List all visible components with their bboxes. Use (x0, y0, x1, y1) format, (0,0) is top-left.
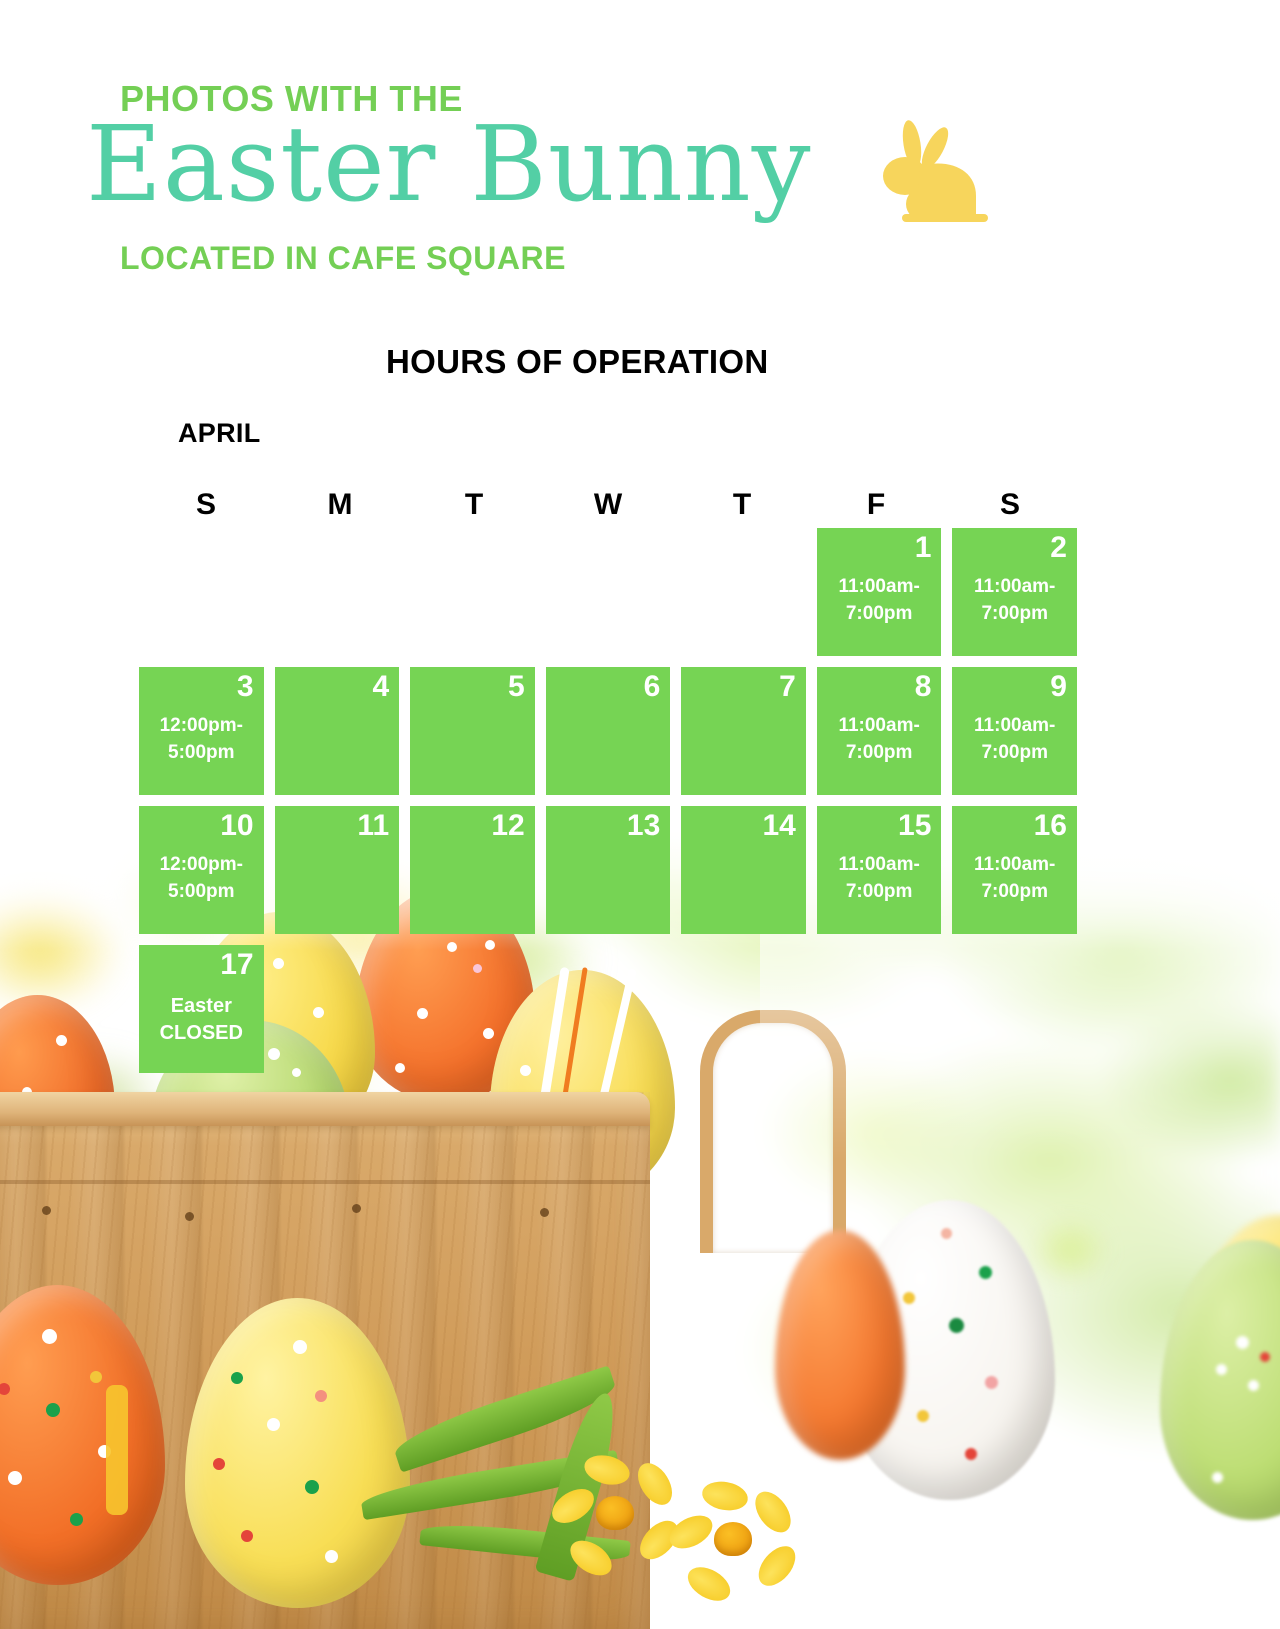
calendar-weeks: 111:00am- 7:00pm211:00am- 7:00pm312:00pm… (139, 528, 1077, 1073)
calendar-day-cell[interactable]: 1012:00pm- 5:00pm (139, 806, 264, 934)
page-title: Easter Bunny (86, 112, 812, 216)
calendar-cell-empty (546, 528, 671, 656)
calendar-day-note: Easter CLOSED (149, 993, 254, 1047)
calendar-week-row: 17Easter CLOSED (139, 945, 1077, 1073)
calendar-day-number: 11 (285, 810, 390, 842)
calendar-day-cell[interactable]: 211:00am- 7:00pm (952, 528, 1077, 656)
basket-rim (0, 1092, 650, 1126)
basket-nail (540, 1208, 549, 1217)
daffodil-flower-right (660, 1470, 850, 1629)
calendar-cell-empty (952, 945, 1077, 1073)
calendar-day-cell[interactable]: 1611:00am- 7:00pm (952, 806, 1077, 934)
calendar-day-hours: 11:00am- 7:00pm (827, 851, 932, 906)
calendar-day-hours: 11:00am- 7:00pm (962, 712, 1067, 767)
calendar-day-cell[interactable]: 4 (275, 667, 400, 795)
calendar-day-number: 3 (149, 671, 254, 703)
basket-nail (352, 1204, 361, 1213)
calendar-day-number: 13 (556, 810, 661, 842)
calendar-cell-empty (546, 945, 671, 1073)
calendar-day-number: 4 (285, 671, 390, 703)
calendar-day-cell[interactable]: 1511:00am- 7:00pm (817, 806, 942, 934)
calendar-week-row: 312:00pm- 5:00pm4567811:00am- 7:00pm911:… (139, 667, 1077, 795)
calendar-day-number: 17 (149, 949, 254, 981)
calendar-day-number: 6 (556, 671, 661, 703)
dow-monday: M (273, 488, 407, 522)
calendar-day-number: 10 (149, 810, 254, 842)
calendar-day-number: 9 (962, 671, 1067, 703)
basket-nail (185, 1212, 194, 1221)
calendar-day-hours: 11:00am- 7:00pm (827, 573, 932, 628)
poster-canvas: PHOTOS WITH THE Easter Bunny LOCATED IN … (0, 0, 1280, 1629)
calendar-day-hours: 12:00pm- 5:00pm (149, 851, 254, 906)
calendar-day-number: 16 (962, 810, 1067, 842)
april-calendar: S M T W T F S 111:00am- 7:00pm211:00am- … (139, 488, 1077, 1084)
calendar-day-number: 15 (827, 810, 932, 842)
calendar-day-number: 2 (962, 532, 1067, 564)
calendar-week-row: 1012:00pm- 5:00pm111213141511:00am- 7:00… (139, 806, 1077, 934)
calendar-day-cell[interactable]: 312:00pm- 5:00pm (139, 667, 264, 795)
calendar-day-number: 5 (420, 671, 525, 703)
calendar-day-cell[interactable]: 12 (410, 806, 535, 934)
calendar-cell-empty (410, 945, 535, 1073)
calendar-day-cell[interactable]: 811:00am- 7:00pm (817, 667, 942, 795)
calendar-cell-empty (410, 528, 535, 656)
calendar-day-number: 7 (691, 671, 796, 703)
dow-thursday: T (675, 488, 809, 522)
calendar-cell-empty (275, 528, 400, 656)
calendar-day-cell[interactable]: 7 (681, 667, 806, 795)
calendar-cell-empty (275, 945, 400, 1073)
calendar-day-hours: 12:00pm- 5:00pm (149, 712, 254, 767)
basket-nail (42, 1206, 51, 1215)
calendar-day-hours: 11:00am- 7:00pm (962, 573, 1067, 628)
calendar-day-cell[interactable]: 5 (410, 667, 535, 795)
calendar-day-cell[interactable]: 11 (275, 806, 400, 934)
calendar-day-hours: 11:00am- 7:00pm (827, 712, 932, 767)
basket-band (0, 1180, 650, 1184)
location-subtitle: LOCATED IN CAFE SQUARE (120, 240, 566, 277)
dow-tuesday: T (407, 488, 541, 522)
dow-friday: F (809, 488, 943, 522)
calendar-week-row: 111:00am- 7:00pm211:00am- 7:00pm (139, 528, 1077, 656)
calendar-day-number: 8 (827, 671, 932, 703)
dow-sunday: S (139, 488, 273, 522)
calendar-day-cell[interactable]: 17Easter CLOSED (139, 945, 264, 1073)
calendar-day-hours: 11:00am- 7:00pm (962, 851, 1067, 906)
day-of-week-header-row: S M T W T F S (139, 488, 1077, 522)
calendar-day-cell[interactable]: 111:00am- 7:00pm (817, 528, 942, 656)
dow-saturday: S (943, 488, 1077, 522)
calendar-day-number: 12 (420, 810, 525, 842)
calendar-day-cell[interactable]: 911:00am- 7:00pm (952, 667, 1077, 795)
calendar-day-cell[interactable]: 14 (681, 806, 806, 934)
calendar-cell-empty (681, 945, 806, 1073)
calendar-cell-empty (139, 528, 264, 656)
calendar-day-number: 14 (691, 810, 796, 842)
calendar-day-number: 1 (827, 532, 932, 564)
hours-of-operation-title: HOURS OF OPERATION (386, 343, 768, 381)
calendar-day-cell[interactable]: 13 (546, 806, 671, 934)
calendar-day-cell[interactable]: 6 (546, 667, 671, 795)
calendar-cell-empty (681, 528, 806, 656)
bunny-silhouette-icon (872, 118, 992, 230)
month-label: APRIL (178, 418, 261, 449)
dow-wednesday: W (541, 488, 675, 522)
calendar-cell-empty (817, 945, 942, 1073)
